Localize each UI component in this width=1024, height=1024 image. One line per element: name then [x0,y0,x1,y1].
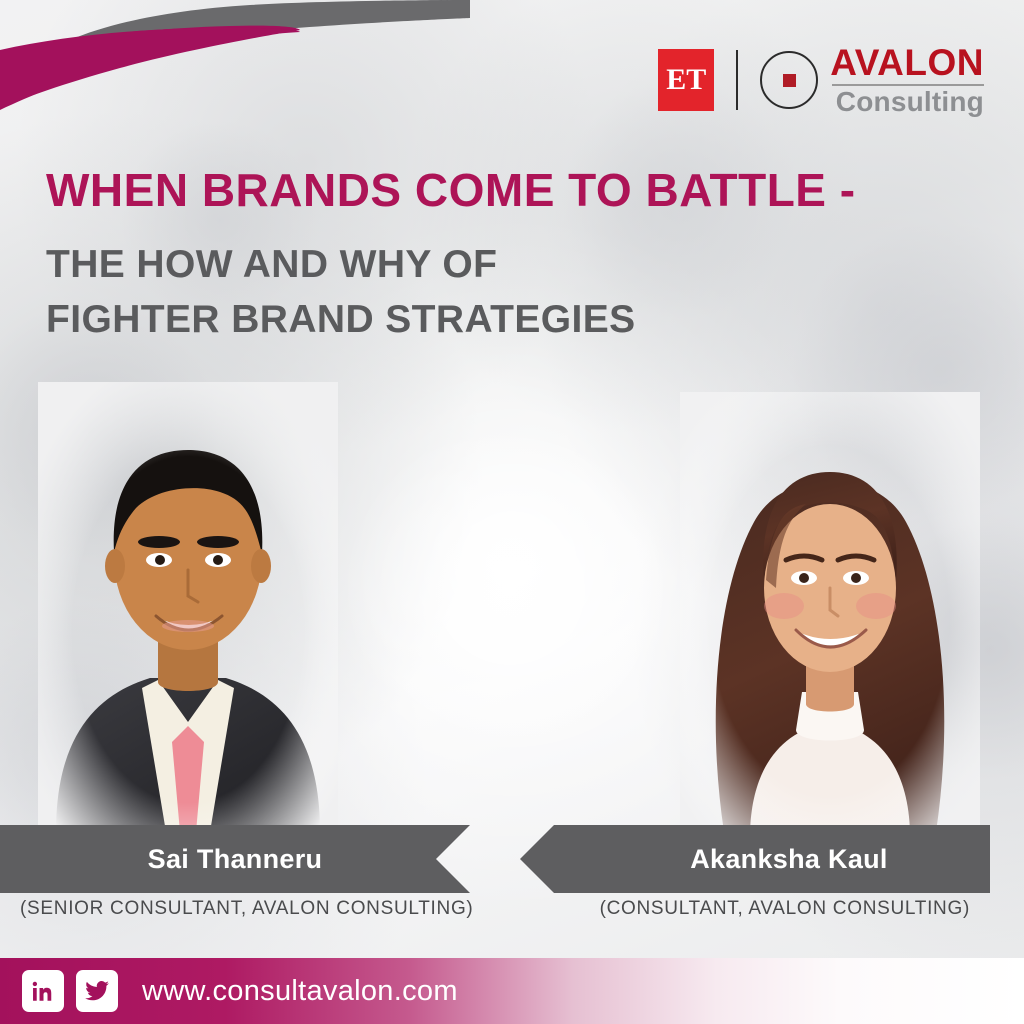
speaker-portrait-right [680,392,980,832]
bokeh-blob [340,420,680,760]
avalon-tagline-text: Consulting [830,88,984,116]
headline-block: WHEN BRANDS COME TO BATTLE - THE HOW AND… [46,166,1006,348]
avalon-circle-icon [760,51,818,109]
footer-bar: www.consultavalon.com [0,958,1024,1024]
logo-divider [736,50,738,110]
promo-poster: ET AVALON Consulting WHEN BRANDS COME TO… [0,0,1024,1024]
linkedin-icon[interactable] [22,970,64,1012]
speaker-name-right: Akanksha Kaul [690,844,887,875]
swoosh-magenta-body [0,28,300,108]
speaker-portrait-left [38,382,338,832]
headline-line-1: WHEN BRANDS COME TO BATTLE - [46,166,1006,215]
twitter-icon[interactable] [76,970,118,1012]
website-url[interactable]: www.consultavalon.com [142,975,458,1008]
headline-line-2: THE HOW AND WHY OF [46,237,1006,292]
decorative-swoosh-group [0,0,470,132]
speaker-role-right: (CONSULTANT, AVALON CONSULTING) [600,898,970,920]
avalon-name-text: AVALON [830,44,984,81]
headline-line-3: FIGHTER BRAND STRATEGIES [46,292,1006,347]
logo-lockup: ET AVALON Consulting [658,44,984,116]
speaker-name-banner-right: Akanksha Kaul [520,825,1024,893]
et-logo-text: ET [666,65,706,95]
speaker-role-left: (SENIOR CONSULTANT, AVALON CONSULTING) [20,898,473,920]
et-logo: ET [658,49,714,111]
speaker-name-left: Sai Thanneru [148,844,323,875]
speaker-name-banner-left: Sai Thanneru [0,825,504,893]
avalon-wordmark: AVALON Consulting [830,44,984,116]
